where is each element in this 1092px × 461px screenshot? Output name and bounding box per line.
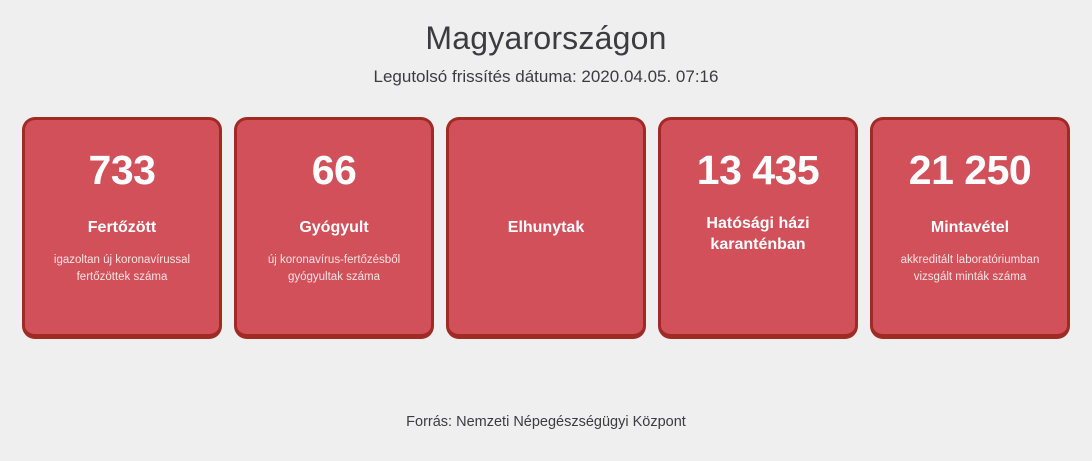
page-title: Magyarországon bbox=[0, 0, 1092, 57]
stat-label-mintavetel: Mintavétel bbox=[931, 217, 1009, 238]
stat-description-mintavetel: akkreditált laboratóriumban vizsgált min… bbox=[895, 252, 1045, 286]
stat-description-fertozott: igazoltan új koronavírussal fertőzöttek … bbox=[47, 252, 197, 286]
stat-label-hatosagi-hazi-karanten: Hatósági házi karanténban bbox=[671, 213, 845, 255]
stat-number-hatosagi-hazi-karanten: 13 435 bbox=[697, 147, 819, 193]
covid-dashboard-page: Magyarországon Legutolsó frissítés dátum… bbox=[0, 0, 1092, 461]
stat-description-gyogyult: új koronavírus-fertőzésből gyógyultak sz… bbox=[259, 252, 409, 286]
stat-label-gyogyult: Gyógyult bbox=[299, 217, 368, 238]
stat-number-fertozott: 733 bbox=[89, 147, 156, 193]
stat-label-elhunytak: Elhunytak bbox=[508, 217, 584, 238]
stat-card-fertozott: 733 Fertőzött igazoltan új koronavírussa… bbox=[22, 117, 222, 339]
stat-number-mintavetel: 21 250 bbox=[909, 147, 1031, 193]
statistics-card-row: 733 Fertőzött igazoltan új koronavírussa… bbox=[0, 117, 1092, 339]
last-update-subtitle: Legutolsó frissítés dátuma: 2020.04.05. … bbox=[0, 57, 1092, 88]
stat-card-hatosagi-hazi-karanten: 13 435 Hatósági házi karanténban bbox=[658, 117, 858, 339]
stat-card-gyogyult: 66 Gyógyult új koronavírus-fertőzésből g… bbox=[234, 117, 434, 339]
stat-card-mintavetel: 21 250 Mintavétel akkreditált laboratóri… bbox=[870, 117, 1070, 339]
stat-label-fertozott: Fertőzött bbox=[88, 217, 156, 238]
stat-card-elhunytak: Elhunytak bbox=[446, 117, 646, 339]
stat-number-gyogyult: 66 bbox=[312, 147, 357, 193]
source-footer: Forrás: Nemzeti Népegészségügyi Központ bbox=[0, 412, 1092, 432]
